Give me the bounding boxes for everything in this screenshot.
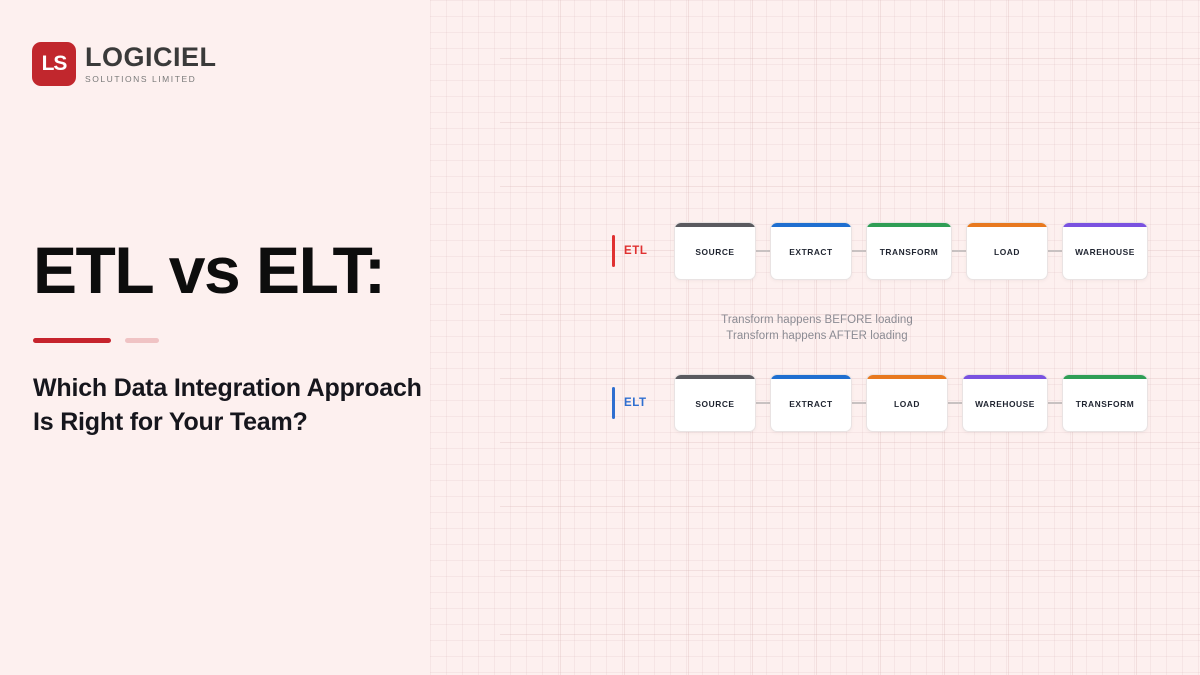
flow-label-elt: ELT: [624, 397, 647, 409]
node-label: LOAD: [891, 399, 923, 409]
node-accent-bar: [771, 223, 851, 227]
flow-connector: [952, 250, 966, 252]
title-divider: [33, 338, 159, 343]
divider-secondary: [125, 338, 159, 343]
page-subtitle-line-2: Is Right for Your Team?: [33, 405, 422, 439]
flow-node-etl-load[interactable]: LOAD: [966, 222, 1048, 280]
flow-connector: [852, 402, 866, 404]
node-accent-bar: [675, 223, 755, 227]
flow-captions: Transform happens BEFORE loading Transfo…: [612, 312, 1022, 345]
node-accent-bar: [867, 223, 951, 227]
logo-tagline: SOLUTIONS LIMITED: [85, 75, 217, 84]
node-accent-bar: [1063, 375, 1147, 379]
node-label: TRANSFORM: [1073, 399, 1137, 409]
flow-label-etl: ETL: [624, 245, 648, 257]
flow-node-elt-load[interactable]: LOAD: [866, 374, 948, 432]
node-label: EXTRACT: [786, 247, 835, 257]
caption-elt: Transform happens AFTER loading: [612, 328, 1022, 344]
node-accent-bar: [1063, 223, 1147, 227]
logo-mark-icon: LS: [32, 42, 76, 86]
flow-node-elt-source[interactable]: SOURCE: [674, 374, 756, 432]
brand-logo[interactable]: LS LOGICIEL SOLUTIONS LIMITED: [32, 42, 217, 86]
flow-node-elt-transform[interactable]: TRANSFORM: [1062, 374, 1148, 432]
node-accent-bar: [963, 375, 1047, 379]
node-accent-bar: [675, 375, 755, 379]
logo-company-name: LOGICIEL: [85, 44, 217, 71]
flow-tag-elt: ELT: [612, 387, 674, 419]
flow-node-etl-source[interactable]: SOURCE: [674, 222, 756, 280]
flow-tag-etl: ETL: [612, 235, 674, 267]
flow-connector: [756, 402, 770, 404]
node-accent-bar: [867, 375, 947, 379]
node-label: SOURCE: [692, 399, 737, 409]
slide-canvas: LS LOGICIEL SOLUTIONS LIMITED ETL vs ELT…: [0, 0, 1200, 675]
logo-wordmark: LOGICIEL SOLUTIONS LIMITED: [85, 44, 217, 84]
flow-row-etl: ETL SOURCE EXTRACT TRANSFORM LOAD WAREHO…: [612, 222, 1148, 280]
node-label: WAREHOUSE: [1072, 247, 1138, 257]
node-label: TRANSFORM: [877, 247, 941, 257]
flow-node-etl-warehouse[interactable]: WAREHOUSE: [1062, 222, 1148, 280]
flow-accent-bar-elt: [612, 387, 615, 419]
page-subtitle: Which Data Integration Approach Is Right…: [33, 371, 422, 439]
logo-mark-text: LS: [42, 52, 67, 76]
flow-accent-bar-etl: [612, 235, 615, 267]
flow-node-etl-transform[interactable]: TRANSFORM: [866, 222, 952, 280]
flow-connector: [948, 402, 962, 404]
page-subtitle-line-1: Which Data Integration Approach: [33, 371, 422, 405]
flow-connector: [1048, 402, 1062, 404]
node-label: WAREHOUSE: [972, 399, 1038, 409]
divider-primary: [33, 338, 111, 343]
flow-node-elt-extract[interactable]: EXTRACT: [770, 374, 852, 432]
flow-connector: [1048, 250, 1062, 252]
caption-etl: Transform happens BEFORE loading: [612, 312, 1022, 328]
node-label: LOAD: [991, 247, 1023, 257]
page-title: ETL vs ELT:: [33, 236, 384, 305]
node-accent-bar: [771, 375, 851, 379]
flow-row-elt: ELT SOURCE EXTRACT LOAD WAREHOUSE TRANSF…: [612, 374, 1148, 432]
flow-connector: [852, 250, 866, 252]
flow-connector: [756, 250, 770, 252]
flow-node-etl-extract[interactable]: EXTRACT: [770, 222, 852, 280]
node-accent-bar: [967, 223, 1047, 227]
node-label: SOURCE: [692, 247, 737, 257]
node-label: EXTRACT: [786, 399, 835, 409]
flow-node-elt-warehouse[interactable]: WAREHOUSE: [962, 374, 1048, 432]
